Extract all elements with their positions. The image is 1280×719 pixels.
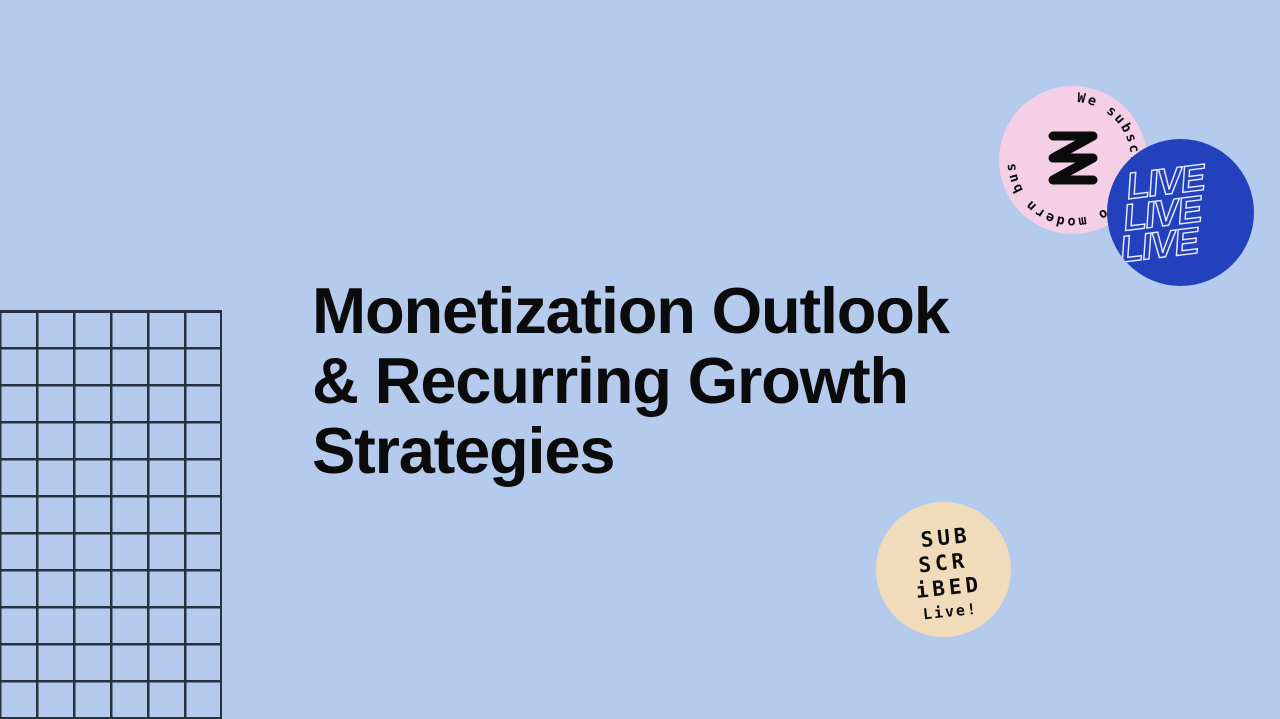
slide-canvas: Monetization Outlook & Recurring Growth … (0, 0, 1280, 719)
page-title: Monetization Outlook & Recurring Growth … (312, 276, 1012, 486)
subscribed-stamp: SUB SCR iBED Live! (876, 502, 1011, 637)
subscribed-text-stack: SUB SCR iBED Live! (871, 519, 1015, 630)
live-text-stack: LIVE LIVE LIVE (1111, 162, 1214, 266)
grid-pattern-decoration (0, 310, 222, 719)
live-stamp: LIVE LIVE LIVE (1107, 139, 1254, 286)
zigzag-logo-icon (1033, 120, 1113, 200)
